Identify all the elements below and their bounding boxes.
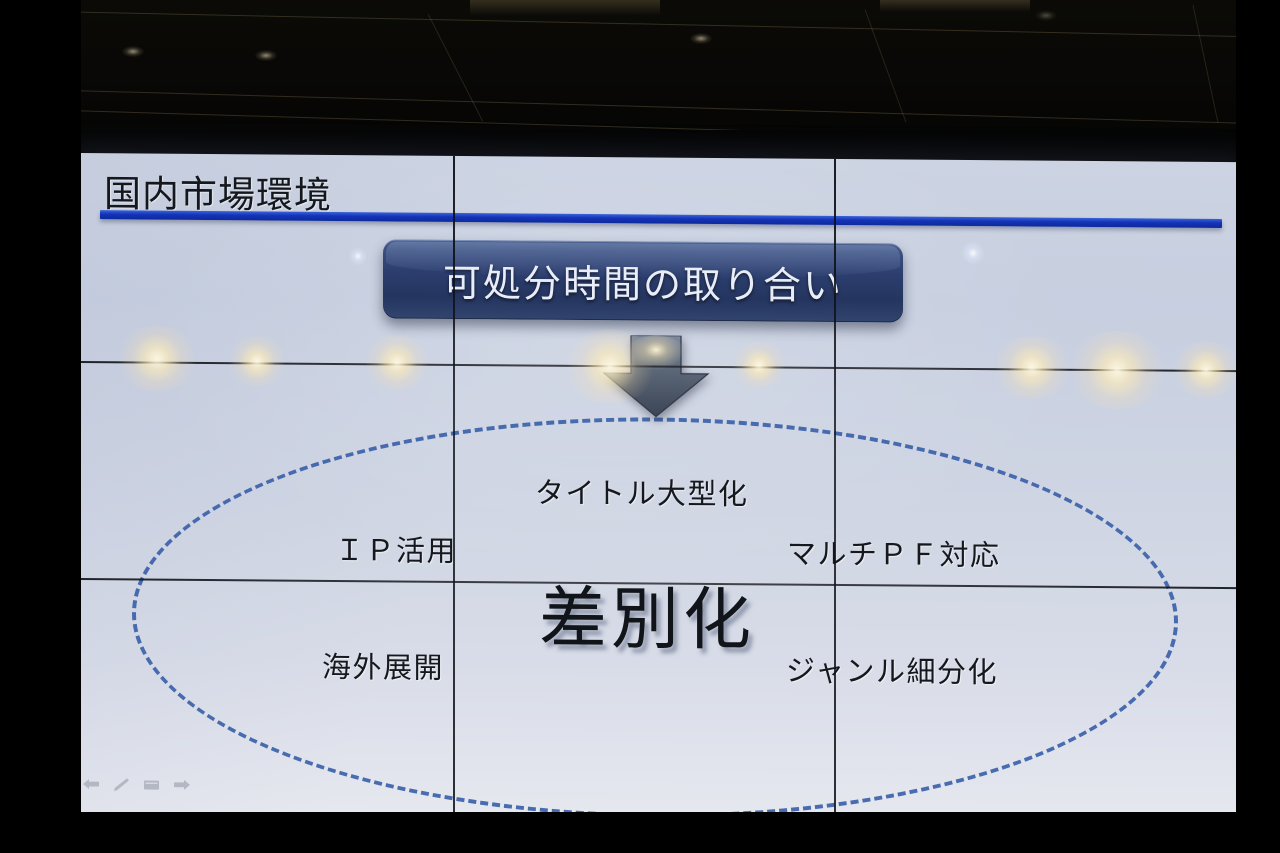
video-wall-screen: 国内市場環境 可処分時間の取り合い <box>80 153 1237 822</box>
video-wall-seam-vertical <box>834 159 836 819</box>
keyword-overseas-expansion: 海外展開 <box>322 644 444 687</box>
photo-stage: 国内市場環境 可処分時間の取り合い <box>0 0 1280 853</box>
presenter-nav-bar <box>83 777 190 792</box>
arrow-right-icon[interactable] <box>173 778 190 792</box>
keyword-title-scale-up: タイトル大型化 <box>535 470 749 514</box>
screen-edge-top <box>0 0 1280 154</box>
keyword-multi-platform: マルチＰＦ対応 <box>787 531 1001 575</box>
down-arrow-icon <box>598 335 714 418</box>
center-keyword: 差別化 <box>539 563 755 664</box>
headline-banner: 可処分時間の取り合い <box>383 239 903 322</box>
headline-banner-label: 可処分時間の取り合い <box>443 252 843 310</box>
title-underline-rule <box>100 210 1222 228</box>
arrow-left-icon[interactable] <box>83 777 100 791</box>
pen-icon[interactable] <box>113 777 130 791</box>
screen-edge-bottom <box>0 812 1280 853</box>
keyword-genre-segmentation: ジャンル細分化 <box>786 648 998 692</box>
menu-icon[interactable] <box>143 777 160 791</box>
keyword-ip-utilization: ＩＰ活用 <box>335 527 457 570</box>
video-wall-seam-vertical <box>453 156 455 816</box>
slide-content: 国内市場環境 可処分時間の取り合い <box>80 153 1237 822</box>
